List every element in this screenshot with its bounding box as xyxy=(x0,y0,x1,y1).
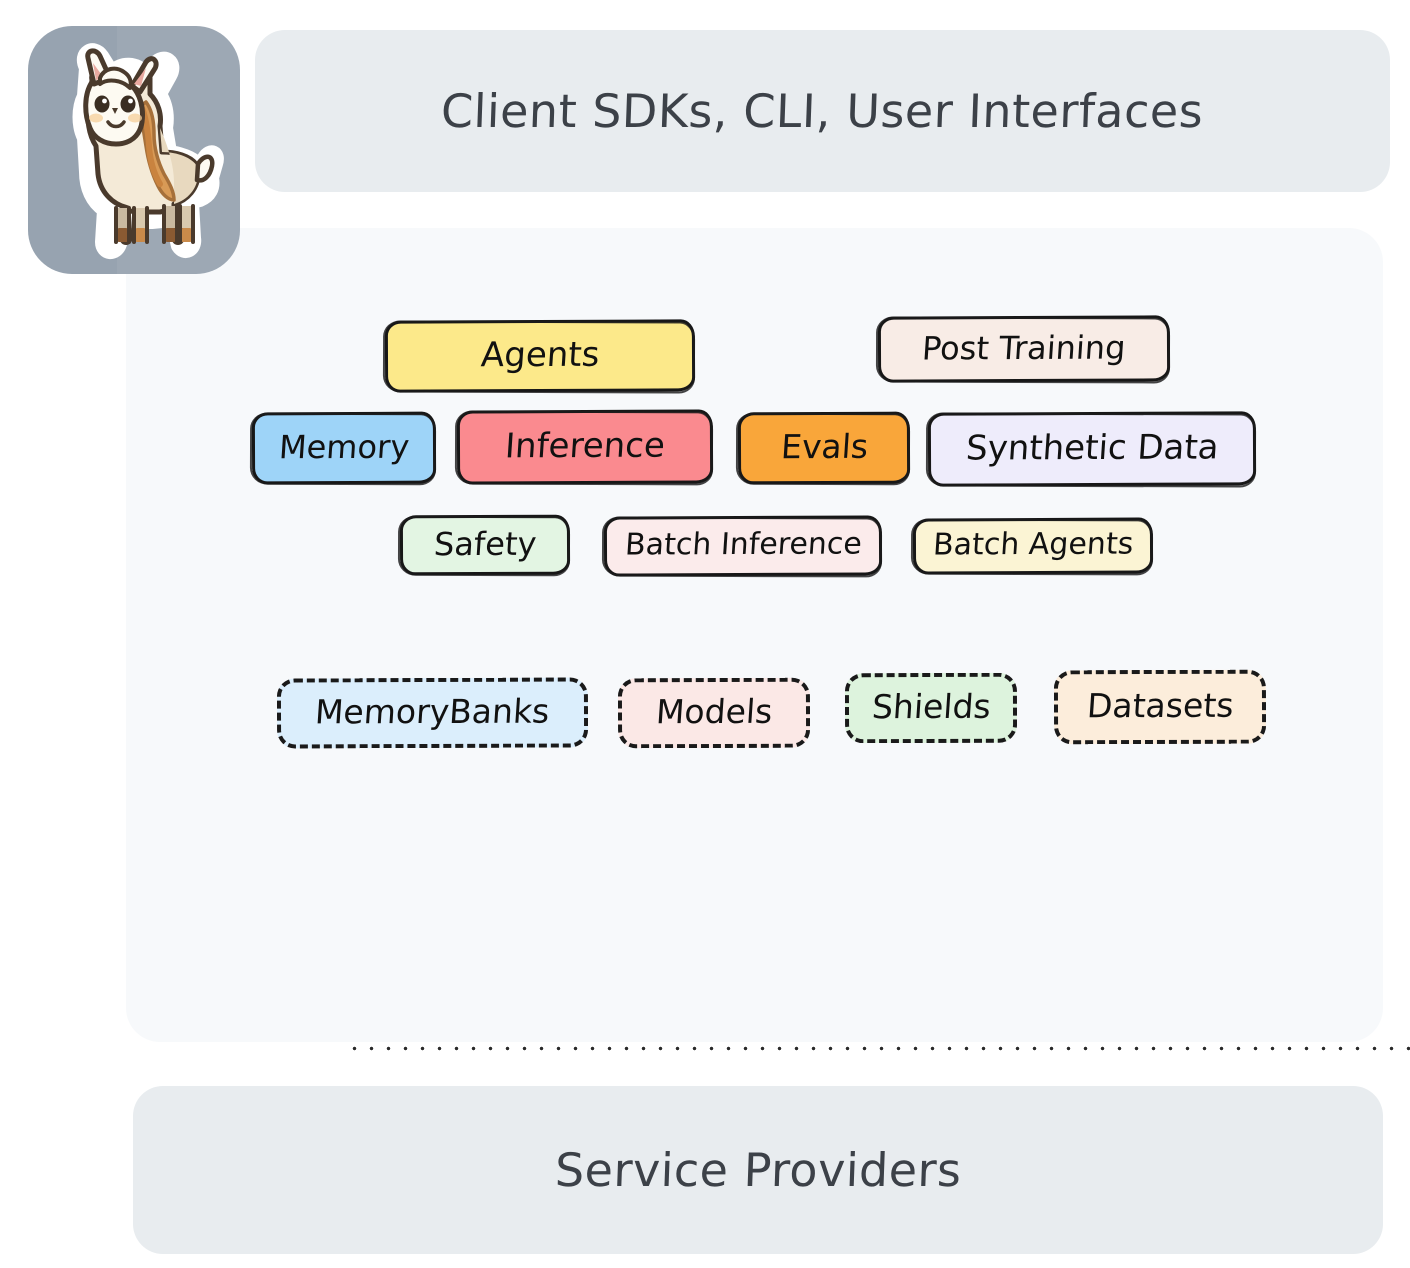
client-layer-label: Client SDKs, CLI, User Interfaces xyxy=(440,84,1204,138)
api-box-safety: Safety xyxy=(400,515,570,576)
diagram-canvas: Client SDKs, CLI, User Interfaces xyxy=(0,0,1410,1268)
api-box-label: Memory xyxy=(278,430,410,466)
api-box-evals: Evals xyxy=(738,412,910,485)
api-box-label: Post Training xyxy=(921,331,1127,367)
llama-logo-tile xyxy=(28,26,240,274)
resource-box-label: Datasets xyxy=(1086,689,1235,726)
api-box-memory: Memory xyxy=(252,412,436,485)
api-box-label: Batch Agents xyxy=(932,529,1134,563)
api-box-label: Safety xyxy=(433,527,538,562)
resource-box-label: MemoryBanks xyxy=(314,695,551,732)
api-box-post-training: Post Training xyxy=(878,315,1170,382)
resource-box-label: Models xyxy=(655,695,774,731)
api-box-agents: Agents xyxy=(385,319,695,392)
api-box-inference: Inference xyxy=(457,409,713,484)
api-box-batch-agents: Batch Agents xyxy=(913,517,1153,574)
api-box-label: Evals xyxy=(779,430,868,466)
llama-stack-api-panel: AgentsPost TrainingMemoryInferenceEvalsS… xyxy=(126,228,1383,1042)
resource-box-label: Shields xyxy=(870,690,991,726)
api-box-label: Synthetic Data xyxy=(965,430,1220,468)
api-resource-divider xyxy=(346,1046,1410,1051)
service-providers-band: Service Providers xyxy=(133,1086,1383,1254)
api-box-batch-inference: Batch Inference xyxy=(604,515,882,576)
resource-box-shields: Shields xyxy=(845,673,1017,744)
resource-box-datasets: Datasets xyxy=(1054,670,1266,745)
resource-box-memorybanks: MemoryBanks xyxy=(277,677,588,748)
resource-box-models: Models xyxy=(618,678,810,749)
service-providers-label: Service Providers xyxy=(554,1143,962,1197)
api-box-synthetic-data: Synthetic Data xyxy=(928,411,1256,486)
api-box-label: Inference xyxy=(504,428,666,466)
client-layer-band: Client SDKs, CLI, User Interfaces xyxy=(255,30,1390,192)
api-box-label: Batch Inference xyxy=(624,529,863,563)
api-box-label: Agents xyxy=(480,337,601,375)
llama-sticker-icon xyxy=(42,42,228,262)
